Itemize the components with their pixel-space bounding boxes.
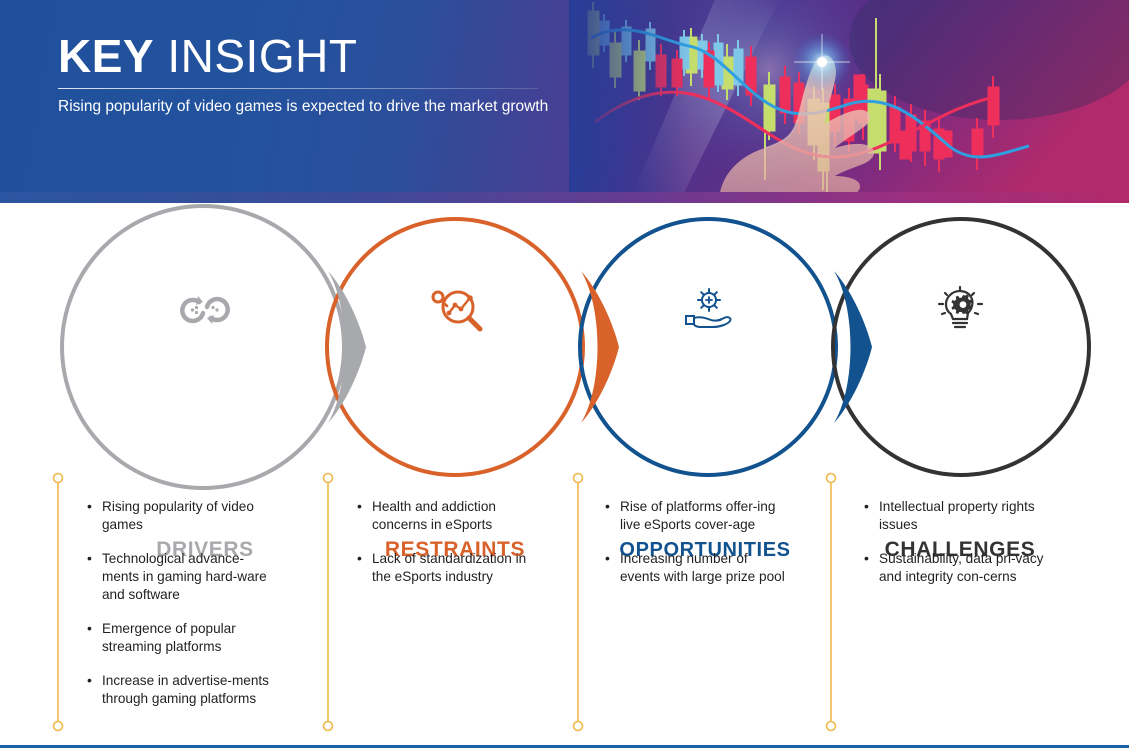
key-insight-infographic: KEY INSIGHT Rising popularity of video g…	[0, 0, 1129, 748]
bullet-column-challenges: Intellectual property rights issues Sust…	[862, 498, 1052, 602]
list-item: Technological advance-ments in gaming ha…	[85, 550, 275, 604]
page-title-bold: KEY	[58, 30, 154, 82]
list-item: Emergence of popular streaming platforms	[85, 620, 275, 656]
bullet-column-drivers: Rising popularity of video games Technol…	[85, 498, 275, 724]
arrow-restraints-to-opportunities	[581, 271, 619, 423]
page-subtitle: Rising popularity of video games is expe…	[58, 95, 578, 118]
header-bottom-strip	[0, 192, 1129, 203]
list-item: Sustainability, data pri-vacy and integr…	[862, 550, 1052, 586]
list-item: Intellectual property rights issues	[862, 498, 1052, 534]
title-divider	[58, 88, 538, 89]
cycle-arrows-icon	[176, 293, 234, 332]
arrow-opportunities-to-challenges	[834, 271, 872, 423]
bullet-column-restraints: Health and addiction concerns in eSports…	[355, 498, 540, 602]
page-title-light: INSIGHT	[154, 30, 357, 82]
page-title: KEY INSIGHT	[58, 28, 357, 84]
lightbulb-gear-icon	[934, 286, 990, 339]
list-item: Health and addiction concerns in eSports	[355, 498, 540, 534]
stock-chart-artwork	[569, 0, 1129, 203]
list-item: Increase in advertise-ments through gami…	[85, 672, 275, 708]
bullet-column-opportunities: Rise of platforms offer-ing live eSports…	[603, 498, 788, 602]
list-item: Rising popularity of video games	[85, 498, 275, 534]
list-item: Rise of platforms offer-ing live eSports…	[603, 498, 788, 534]
artwork-left-fade	[569, 0, 689, 203]
hand-idea-sun-icon	[678, 288, 740, 337]
magnifier-chart-icon	[424, 288, 486, 337]
header-banner: KEY INSIGHT Rising popularity of video g…	[0, 0, 1129, 203]
list-item: Increasing number of events with large p…	[603, 550, 788, 586]
circle-drivers	[62, 206, 344, 488]
list-item: Lack of standardization in the eSports i…	[355, 550, 540, 586]
